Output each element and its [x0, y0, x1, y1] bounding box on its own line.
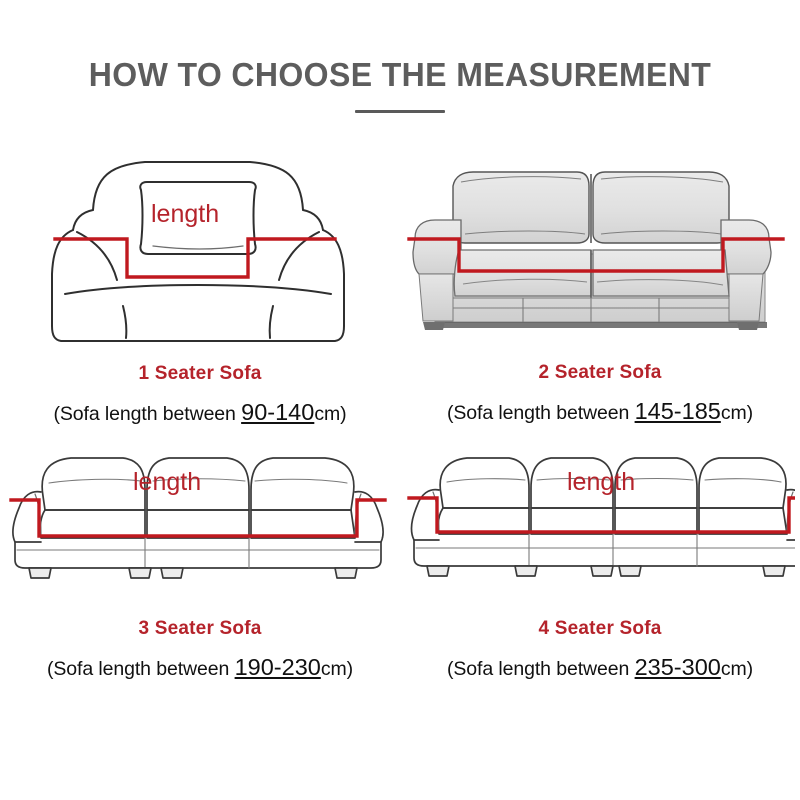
range-suffix: cm)	[321, 658, 353, 680]
page-header: HOW TO CHOOSE THE MEASUREMENT	[0, 58, 800, 113]
four-seater-illustration: length	[400, 438, 800, 588]
three-seater-length-label: length	[133, 468, 201, 496]
range-prefix: (Sofa length between	[54, 403, 242, 425]
page-title: HOW TO CHOOSE THE MEASUREMENT	[12, 58, 788, 93]
one-seater-illustration: length	[0, 146, 400, 351]
range-value: 90-140	[241, 399, 314, 425]
range-value: 235-300	[635, 654, 721, 680]
four-seater-measure-bracket	[409, 498, 795, 532]
one-seater-length-label: length	[151, 200, 219, 228]
two-seater-type-label: 2 Seater Sofa	[539, 362, 662, 384]
sofa-size-grid: length 1 Seater Sofa (Sofa length betwee…	[0, 146, 800, 728]
range-suffix: cm)	[314, 403, 346, 425]
range-prefix: (Sofa length between	[447, 658, 635, 680]
panel-one-seater[interactable]: length 1 Seater Sofa (Sofa length betwee…	[0, 146, 400, 438]
three-seater-type-label: 3 Seater Sofa	[139, 618, 262, 640]
range-suffix: cm)	[721, 658, 753, 680]
four-seater-type-label: 4 Seater Sofa	[539, 618, 662, 640]
three-seater-illustration: length	[0, 438, 400, 588]
panel-four-seater[interactable]: length 4 Seater Sofa (Sofa length betwee…	[400, 438, 800, 728]
one-seater-type-label: 1 Seater Sofa	[139, 363, 262, 385]
three-seater-measure-bracket	[11, 500, 385, 536]
two-seater-range-caption: (Sofa length between 145-185cm)	[447, 398, 753, 425]
title-divider	[355, 110, 445, 113]
four-seater-range-caption: (Sofa length between 235-300cm)	[447, 654, 753, 681]
two-seater-svg	[405, 146, 795, 346]
panel-two-seater[interactable]: 2 Seater Sofa (Sofa length between 145-1…	[400, 146, 800, 438]
range-prefix: (Sofa length between	[447, 402, 635, 424]
three-seater-svg: length	[5, 438, 395, 588]
range-suffix: cm)	[721, 402, 753, 424]
one-seater-range-caption: (Sofa length between 90-140cm)	[54, 399, 347, 426]
range-value: 145-185	[635, 398, 721, 424]
panel-three-seater[interactable]: length 3 Seater Sofa (Sofa length betwee…	[0, 438, 400, 728]
range-value: 190-230	[235, 654, 321, 680]
one-seater-svg: length	[35, 146, 365, 351]
three-seater-range-caption: (Sofa length between 190-230cm)	[47, 654, 353, 681]
two-seater-illustration	[400, 146, 800, 346]
four-seater-length-label: length	[567, 468, 635, 496]
range-prefix: (Sofa length between	[47, 658, 235, 680]
four-seater-svg: length	[405, 438, 795, 588]
